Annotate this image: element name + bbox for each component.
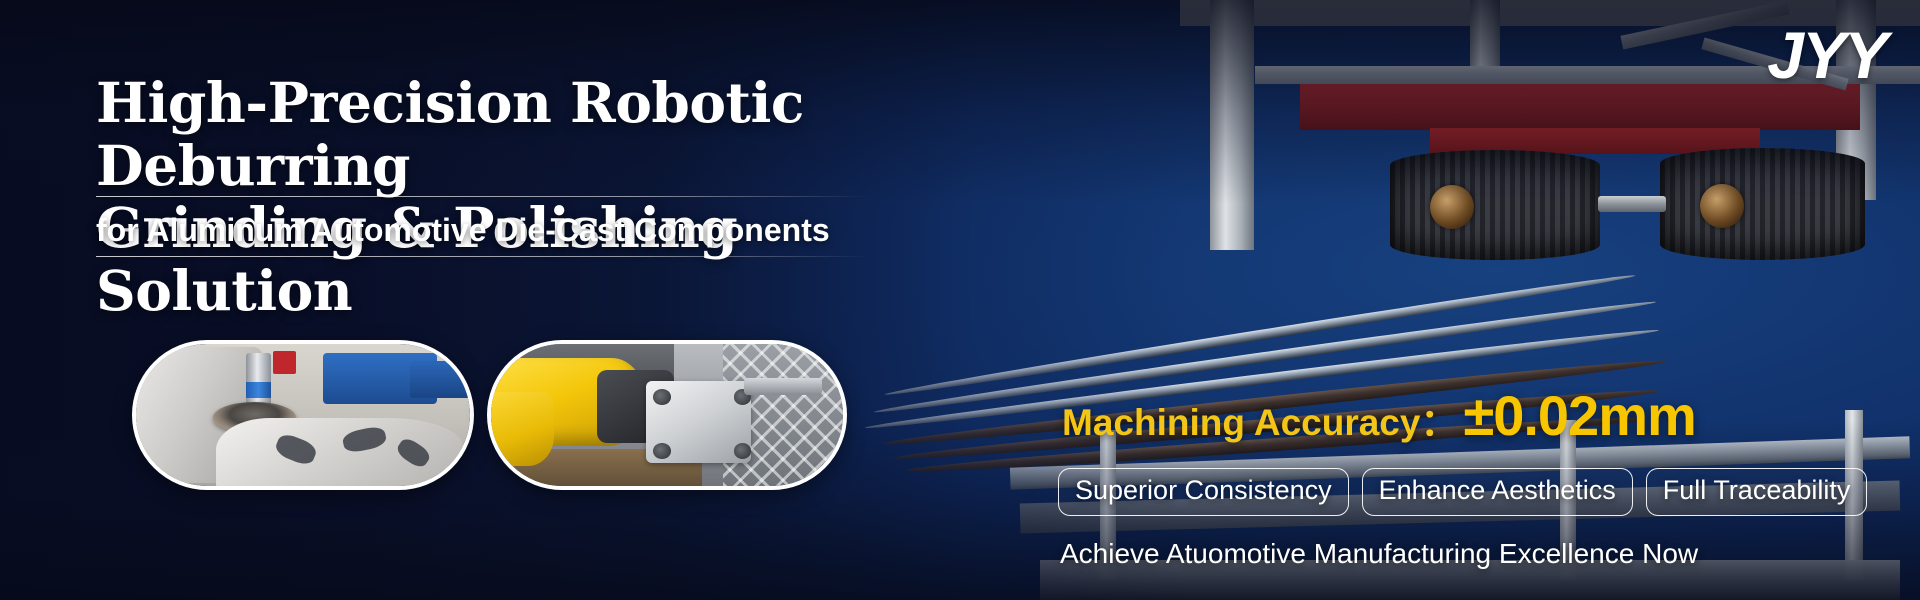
page-title: High-Precision Robotic Deburring Grindin…: [96, 72, 976, 323]
feature-pill-superior-consistency[interactable]: Superior Consistency: [1058, 468, 1349, 516]
product-photo-grinding-image: [136, 344, 470, 486]
product-photo-robot-arm[interactable]: [487, 340, 847, 490]
jyy-logo[interactable]: JYY: [1767, 22, 1886, 88]
page-subtitle: for Aluminum Automotive Die-Cast Compone…: [96, 206, 996, 254]
divider-above-subhead: [96, 196, 866, 197]
feature-pill-full-traceability[interactable]: Full Traceability: [1646, 468, 1868, 516]
product-photo-grinding[interactable]: [132, 340, 474, 490]
product-photo-robot-arm-image: [491, 344, 843, 486]
accuracy-value: ±0.02mm: [1463, 383, 1695, 448]
divider-below-subhead: [96, 256, 866, 257]
headline-line-1: High-Precision Robotic Deburring: [96, 72, 976, 197]
accuracy-callout: Machining Accuracy： ±0.02mm: [1062, 383, 1696, 448]
promo-banner: JYY High-Precision Robotic Deburring Gri…: [0, 0, 1920, 600]
call-to-action-tagline: Achieve Atuomotive Manufacturing Excelle…: [1060, 538, 1698, 570]
accuracy-label: Machining Accuracy：: [1062, 392, 1457, 446]
feature-pill-enhance-aesthetics[interactable]: Enhance Aesthetics: [1362, 468, 1633, 516]
feature-pill-group: Superior Consistency Enhance Aesthetics …: [1058, 468, 1867, 516]
